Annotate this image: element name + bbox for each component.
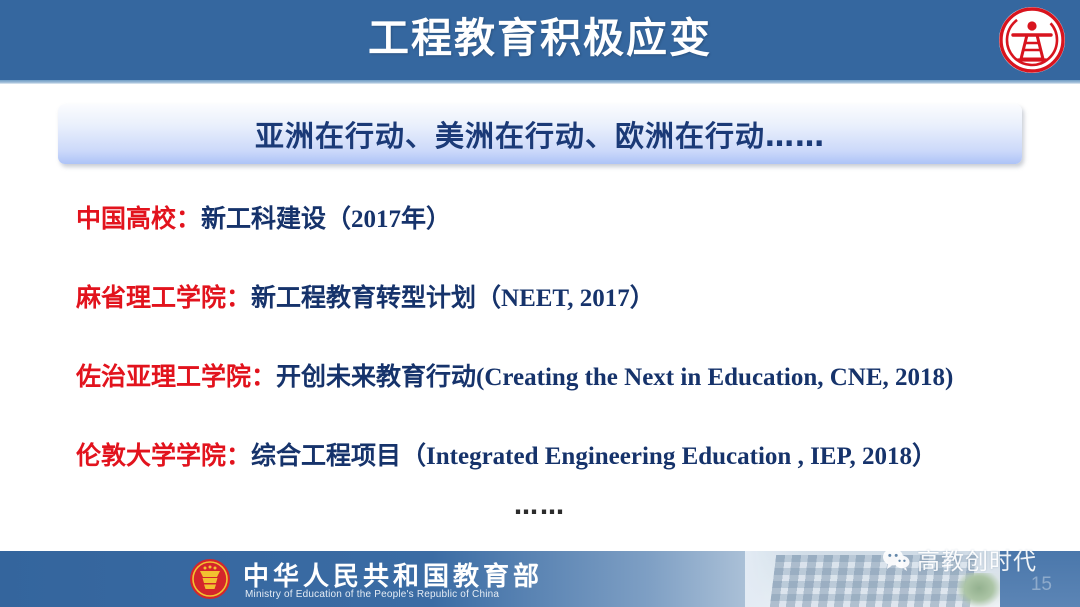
subtitle-banner: 亚洲在行动、美洲在行动、欧洲在行动…… [58, 104, 1022, 164]
wechat-icon [882, 547, 910, 571]
slide-root: 工程教育积极应变 亚洲在行动、美洲在行动、欧洲在行动…… 中国高校： 新工科建设… [0, 0, 1080, 607]
program-name-en: (Creating the Next in Education, CNE, 20… [476, 364, 953, 391]
program-name-en: （Integrated Engineering Education , IEP,… [401, 443, 937, 470]
program-name-cn: 综合工程项目 [251, 441, 401, 470]
national-emblem-china-icon [189, 558, 231, 600]
photo-tree-shape [957, 573, 1001, 607]
watermark: 高教创时代 [882, 542, 1037, 576]
list-item: 麻省理工学院： 新工程教育转型计划 （NEET, 2017） [76, 275, 1051, 354]
institution-label: 佐治亚理工学院： [76, 362, 276, 391]
ellipsis-text: …… [0, 492, 1080, 520]
header-underline [0, 80, 1080, 84]
list-item: 佐治亚理工学院： 开创未来教育行动 (Creating the Next in … [76, 354, 1051, 433]
program-name-en: （NEET, 2017） [476, 285, 655, 312]
body-content: 中国高校： 新工科建设 （2017年） 麻省理工学院： 新工程教育转型计划 （N… [76, 196, 1051, 512]
institution-label: 伦敦大学学院： [76, 441, 251, 470]
institution-label: 中国高校： [76, 204, 201, 233]
subtitle-text: 亚洲在行动、美洲在行动、欧洲在行动…… [255, 113, 825, 155]
program-name-cn: 开创未来教育行动 [276, 362, 476, 391]
program-name-en: （2017年） [326, 206, 451, 233]
institution-label: 麻省理工学院： [76, 283, 251, 312]
page-number: 15 [1031, 574, 1052, 596]
watermark-text: 高教创时代 [917, 542, 1037, 576]
program-name-cn: 新工程教育转型计划 [251, 283, 476, 312]
program-name-cn: 新工科建设 [201, 204, 326, 233]
list-item: 中国高校： 新工科建设 （2017年） [76, 196, 1051, 275]
page-title: 工程教育积极应变 [0, 7, 1080, 69]
ministry-name-cn: 中华人民共和国教育部 [243, 556, 543, 593]
ministry-name-en: Ministry of Education of the People's Re… [245, 589, 499, 600]
jiaotong-university-emblem-icon [996, 4, 1068, 76]
